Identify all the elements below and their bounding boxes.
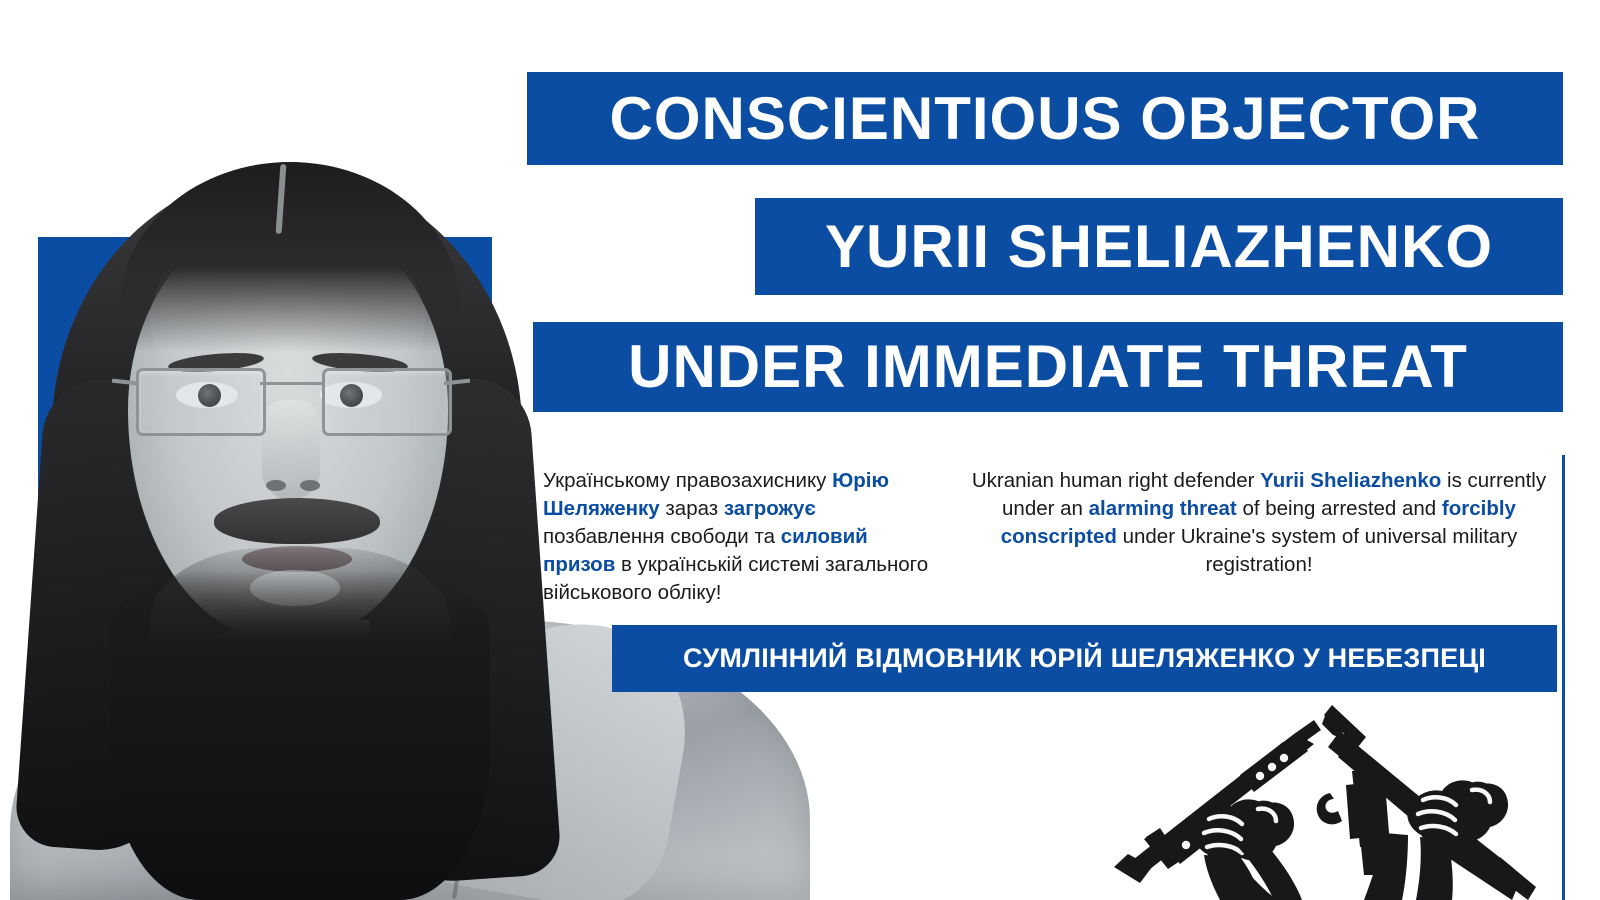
ukrainian-slogan-text: СУМЛІННИЙ ВІДМОВНИК ЮРІЙ ШЕЛЯЖЕНКО У НЕБ… <box>683 645 1486 672</box>
headline-text-line-1: CONSCIENTIOUS OBJECTOR <box>610 89 1481 149</box>
para-en-highlight-name: Yurii Sheliazhenko <box>1260 469 1441 492</box>
portrait-nostril-right <box>300 480 320 491</box>
portrait-glasses-lens-right <box>322 368 452 436</box>
paragraph-english: Ukranian human right defender Yurii Shel… <box>961 467 1557 579</box>
headline-banner-line-1: CONSCIENTIOUS OBJECTOR <box>527 72 1563 165</box>
para-uk-highlight-threat: загрожує <box>724 497 816 520</box>
para-uk-part1: Українському правозахиснику <box>543 469 832 492</box>
portrait-hairline <box>120 162 460 352</box>
portrait-moustache <box>214 498 380 544</box>
para-en-highlight-threat: alarming threat <box>1089 497 1237 520</box>
right-vertical-rule <box>1562 455 1565 900</box>
headline-text-line-3: UNDER IMMEDIATE THREAT <box>628 337 1468 397</box>
broken-rifle-icon <box>1108 697 1538 900</box>
headline-banner-line-3: UNDER IMMEDIATE THREAT <box>533 322 1563 412</box>
para-en-part1: Ukranian human right defender <box>972 469 1260 492</box>
headline-banner-line-2: YURII SHELIAZHENKO <box>755 198 1563 295</box>
portrait-nostril-left <box>266 480 286 491</box>
headline-text-line-2: YURII SHELIAZHENKO <box>825 217 1493 277</box>
portrait-glasses-bridge <box>260 382 322 385</box>
portrait-hair-front <box>110 570 490 900</box>
bilingual-text-row: Українському правозахиснику Юрію Шеляжен… <box>527 440 1557 590</box>
portrait-glasses-lens-left <box>136 368 266 436</box>
para-en-part3: of being arrested and <box>1237 497 1442 520</box>
para-uk-part3: позбавлення свободи та <box>543 525 781 548</box>
ukrainian-slogan-banner: СУМЛІННИЙ ВІДМОВНИК ЮРІЙ ШЕЛЯЖЕНКО У НЕБ… <box>612 625 1557 692</box>
poster-canvas: CONSCIENTIOUS OBJECTOR YURII SHELIAZHENK… <box>0 0 1600 900</box>
portrait-glasses <box>126 362 456 452</box>
para-en-part4: under Ukraine's system of universal mili… <box>1117 525 1517 576</box>
para-uk-part2: зараз <box>660 497 724 520</box>
paragraph-ukrainian: Українському правозахиснику Юрію Шеляжен… <box>543 467 943 607</box>
